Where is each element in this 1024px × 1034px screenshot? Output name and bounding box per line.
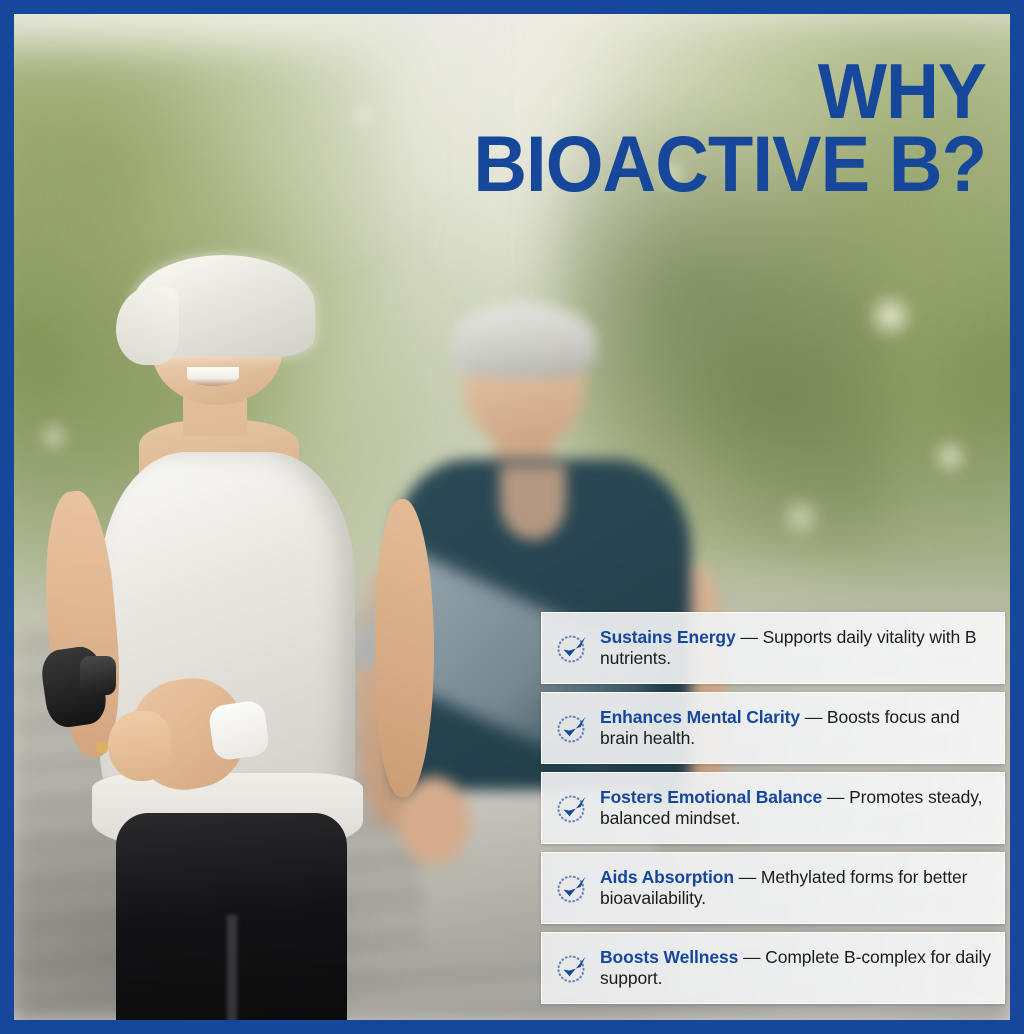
page-title-line-1: WHY [403,56,986,128]
list-item-title: Boosts Wellness [600,947,738,967]
list-item-separator: — [734,867,761,887]
list-item-separator: — [736,627,763,647]
list-item-separator: — [822,787,849,807]
list-item-separator: — [800,707,827,727]
list-item[interactable]: Fosters Emotional Balance — Promotes ste… [541,772,1005,844]
blue-checkmark-in-dotted-circle-icon [556,631,590,665]
list-item-title: Enhances Mental Clarity [600,707,800,727]
list-item-text: Fosters Emotional Balance — Promotes ste… [600,787,992,830]
list-item-text: Sustains Energy — Supports daily vitalit… [600,627,992,670]
blue-checkmark-in-dotted-circle-icon [556,711,590,745]
page-title: WHY BIOACTIVE B? [366,56,986,200]
list-item[interactable]: Aids Absorption — Methylated forms for b… [541,852,1005,924]
list-item-text: Boosts Wellness — Complete B-complex for… [600,947,992,990]
blue-checkmark-in-dotted-circle-icon [556,951,590,985]
list-item-separator: — [738,947,765,967]
blue-checkmark-in-dotted-circle-icon [556,871,590,905]
benefit-list: Sustains Energy — Supports daily vitalit… [541,612,1005,1004]
list-item[interactable]: Enhances Mental Clarity — Boosts focus a… [541,692,1005,764]
list-item-title: Aids Absorption [600,867,734,887]
list-item[interactable]: Sustains Energy — Supports daily vitalit… [541,612,1005,684]
list-item-title: Sustains Energy [600,627,736,647]
blue-checkmark-in-dotted-circle-icon [556,791,590,825]
list-item[interactable]: Boosts Wellness — Complete B-complex for… [541,932,1005,1004]
page-title-line-2: BIOACTIVE B? [403,128,986,201]
list-item-text: Enhances Mental Clarity — Boosts focus a… [600,707,992,750]
list-item-text: Aids Absorption — Methylated forms for b… [600,867,992,910]
list-item-title: Fosters Emotional Balance [600,787,822,807]
poster-canvas: WHY BIOACTIVE B? Sustains Energy — Suppo… [0,0,1024,1034]
